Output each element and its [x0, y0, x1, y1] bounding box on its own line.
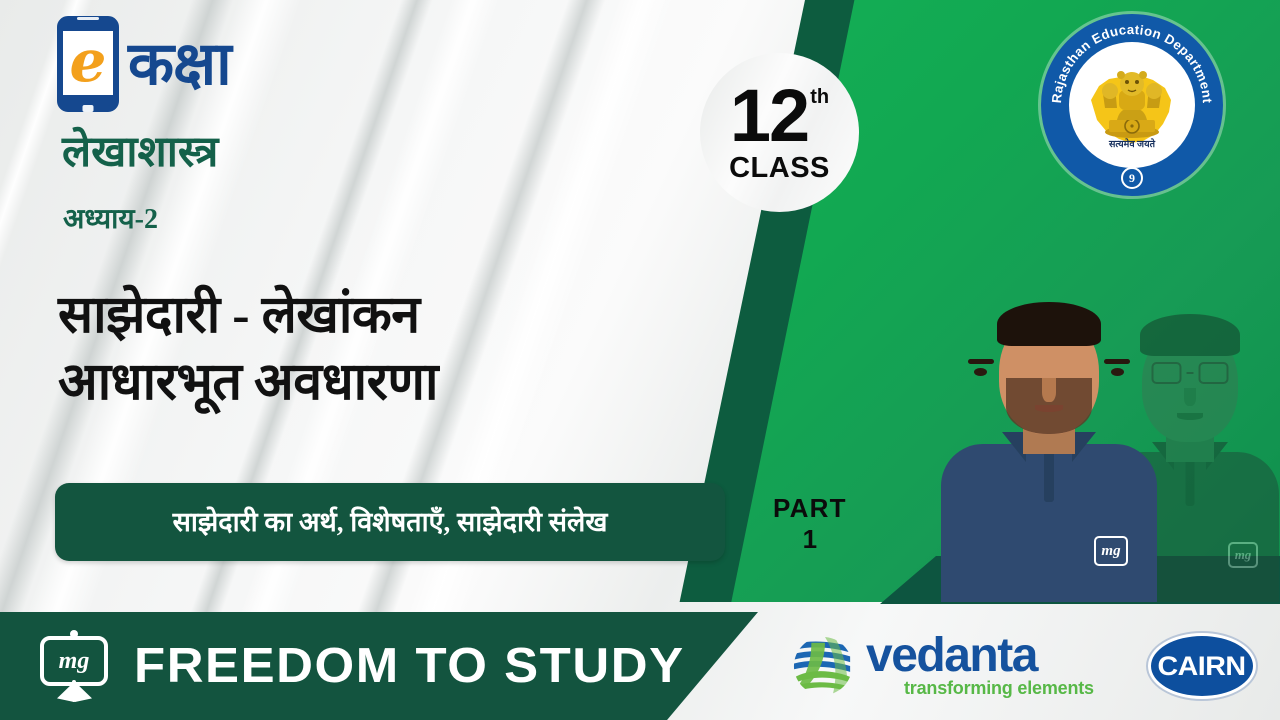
cairn-logo: CAIRN	[1148, 633, 1256, 699]
title-line-2: आधारभूत अवधारणा	[58, 350, 438, 417]
vedanta-wordmark: vedanta transforming elements	[866, 634, 1094, 699]
instructor-front-placket	[1044, 446, 1054, 502]
class-word-label: CLASS	[729, 154, 830, 183]
ekaksha-logo: e कक्षा	[57, 16, 231, 112]
instructor-front-brow-left	[968, 359, 994, 364]
instructor-back-placket	[1186, 456, 1195, 506]
subtitle-text: साझेदारी का अर्थ, विशेषताएँ, साझेदारी सं…	[173, 509, 608, 536]
chapter-label: अध्याय-2	[63, 206, 158, 234]
emblem-center: सत्यमेव जयते	[1069, 42, 1195, 168]
instructor-back-glasses-icon	[1152, 362, 1229, 384]
instructor-front-nose	[1042, 378, 1056, 402]
logo-letter-e: e	[70, 32, 107, 90]
logo-word-kaksha: कक्षा	[128, 34, 231, 94]
cairn-name: CAIRN	[1158, 651, 1246, 682]
class-ordinal-suffix: th	[810, 87, 829, 107]
mg-logo-text: mg	[44, 640, 104, 682]
instructor-front-shirt-logo: mg	[1094, 536, 1128, 566]
bottom-banner: mg FREEDOM TO STUDY	[0, 612, 758, 720]
title-line-1: साझेदारी - लेखांकन	[58, 283, 438, 350]
instructor-back-nose	[1184, 388, 1196, 406]
class-badge: 12 th CLASS	[700, 53, 859, 212]
smartphone-icon: e	[57, 16, 119, 112]
instructor-front-collar-right	[1072, 432, 1096, 462]
part-label: PART	[773, 493, 847, 524]
instructor-front-eye-right	[1111, 368, 1124, 376]
vedanta-logo: vedanta transforming elements	[792, 634, 1094, 699]
vedanta-globe-icon	[792, 635, 854, 697]
class-number: 12	[730, 82, 808, 150]
part-number: 1	[773, 524, 847, 555]
glasses-bridge	[1187, 372, 1194, 374]
subject-title: लेखाशास्त्र	[62, 131, 218, 174]
instructor-front-brow-right	[1104, 359, 1130, 364]
tagline-text: FREEDOM TO STUDY	[134, 642, 685, 691]
thumbnail-canvas: e कक्षा लेखाशास्त्र अध्याय-2 साझेदारी - …	[0, 0, 1280, 720]
instructor-front-eye-left	[974, 368, 987, 376]
rajasthan-education-department-emblem: Rajasthan Education Department	[1041, 14, 1223, 196]
emblem-motto: सत्यमेव जयते	[1108, 138, 1156, 150]
emblem-bottom-mark: 9	[1121, 167, 1143, 189]
class-number-row: 12 th	[730, 82, 829, 150]
instructor-front: mg	[940, 282, 1158, 602]
instructor-front-hair	[997, 302, 1101, 346]
instructor-back-shirt-logo: mg	[1228, 542, 1258, 568]
instructor-front-mouth	[1035, 405, 1063, 412]
subtitle-banner: साझेदारी का अर्थ, विशेषताएँ, साझेदारी सं…	[55, 483, 725, 561]
phone-screen: e	[63, 31, 113, 95]
vedanta-name: vedanta	[866, 634, 1094, 678]
instructor-photos: mg mg	[930, 236, 1280, 602]
mg-blackboard-icon: mg	[36, 630, 112, 702]
vedanta-tagline: transforming elements	[904, 679, 1094, 699]
phone-home-button-icon	[83, 105, 94, 112]
ashoka-capital-and-rajasthan-map-icon: सत्यमेव जयते	[1073, 46, 1191, 164]
mg-board-frame: mg	[40, 636, 108, 686]
page-title: साझेदारी - लेखांकन आधारभूत अवधारणा	[58, 283, 438, 416]
sponsor-logos: vedanta transforming elements CAIRN	[780, 612, 1280, 720]
glasses-lens-right	[1199, 362, 1229, 384]
part-label-group: PART 1	[773, 493, 847, 554]
phone-speaker-icon	[77, 17, 99, 20]
instructor-back-mouth	[1177, 413, 1203, 420]
